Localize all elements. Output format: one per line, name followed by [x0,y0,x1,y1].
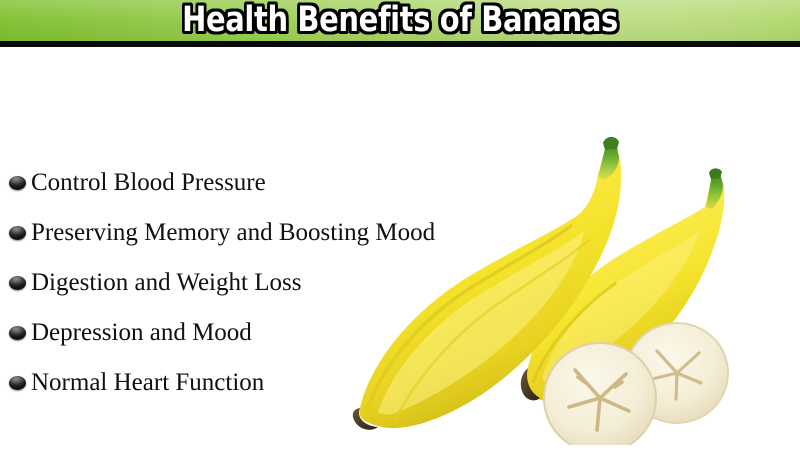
banana-slice-front [544,343,656,445]
poster-canvas: Health Benefits of Bananas Control Blood… [0,0,800,450]
benefit-label: Normal Heart Function [31,369,264,397]
benefit-label: Depression and Mood [31,319,252,347]
banana-back-stem-cap [709,168,722,179]
page-title: Health Benefits of Bananas [32,0,768,41]
bullet-dot-icon [9,276,26,290]
bullet-dot-icon [9,226,26,240]
benefit-label: Digestion and Weight Loss [31,269,301,297]
bullet-dot-icon [9,176,26,190]
bullet-dot-icon [9,326,26,340]
bullet-dot-icon [9,376,26,390]
banana-photo-illustration [320,115,800,445]
benefit-label: Control Blood Pressure [31,169,266,197]
banana-front-stem-cap [603,137,619,150]
header-divider-rule [0,41,800,47]
